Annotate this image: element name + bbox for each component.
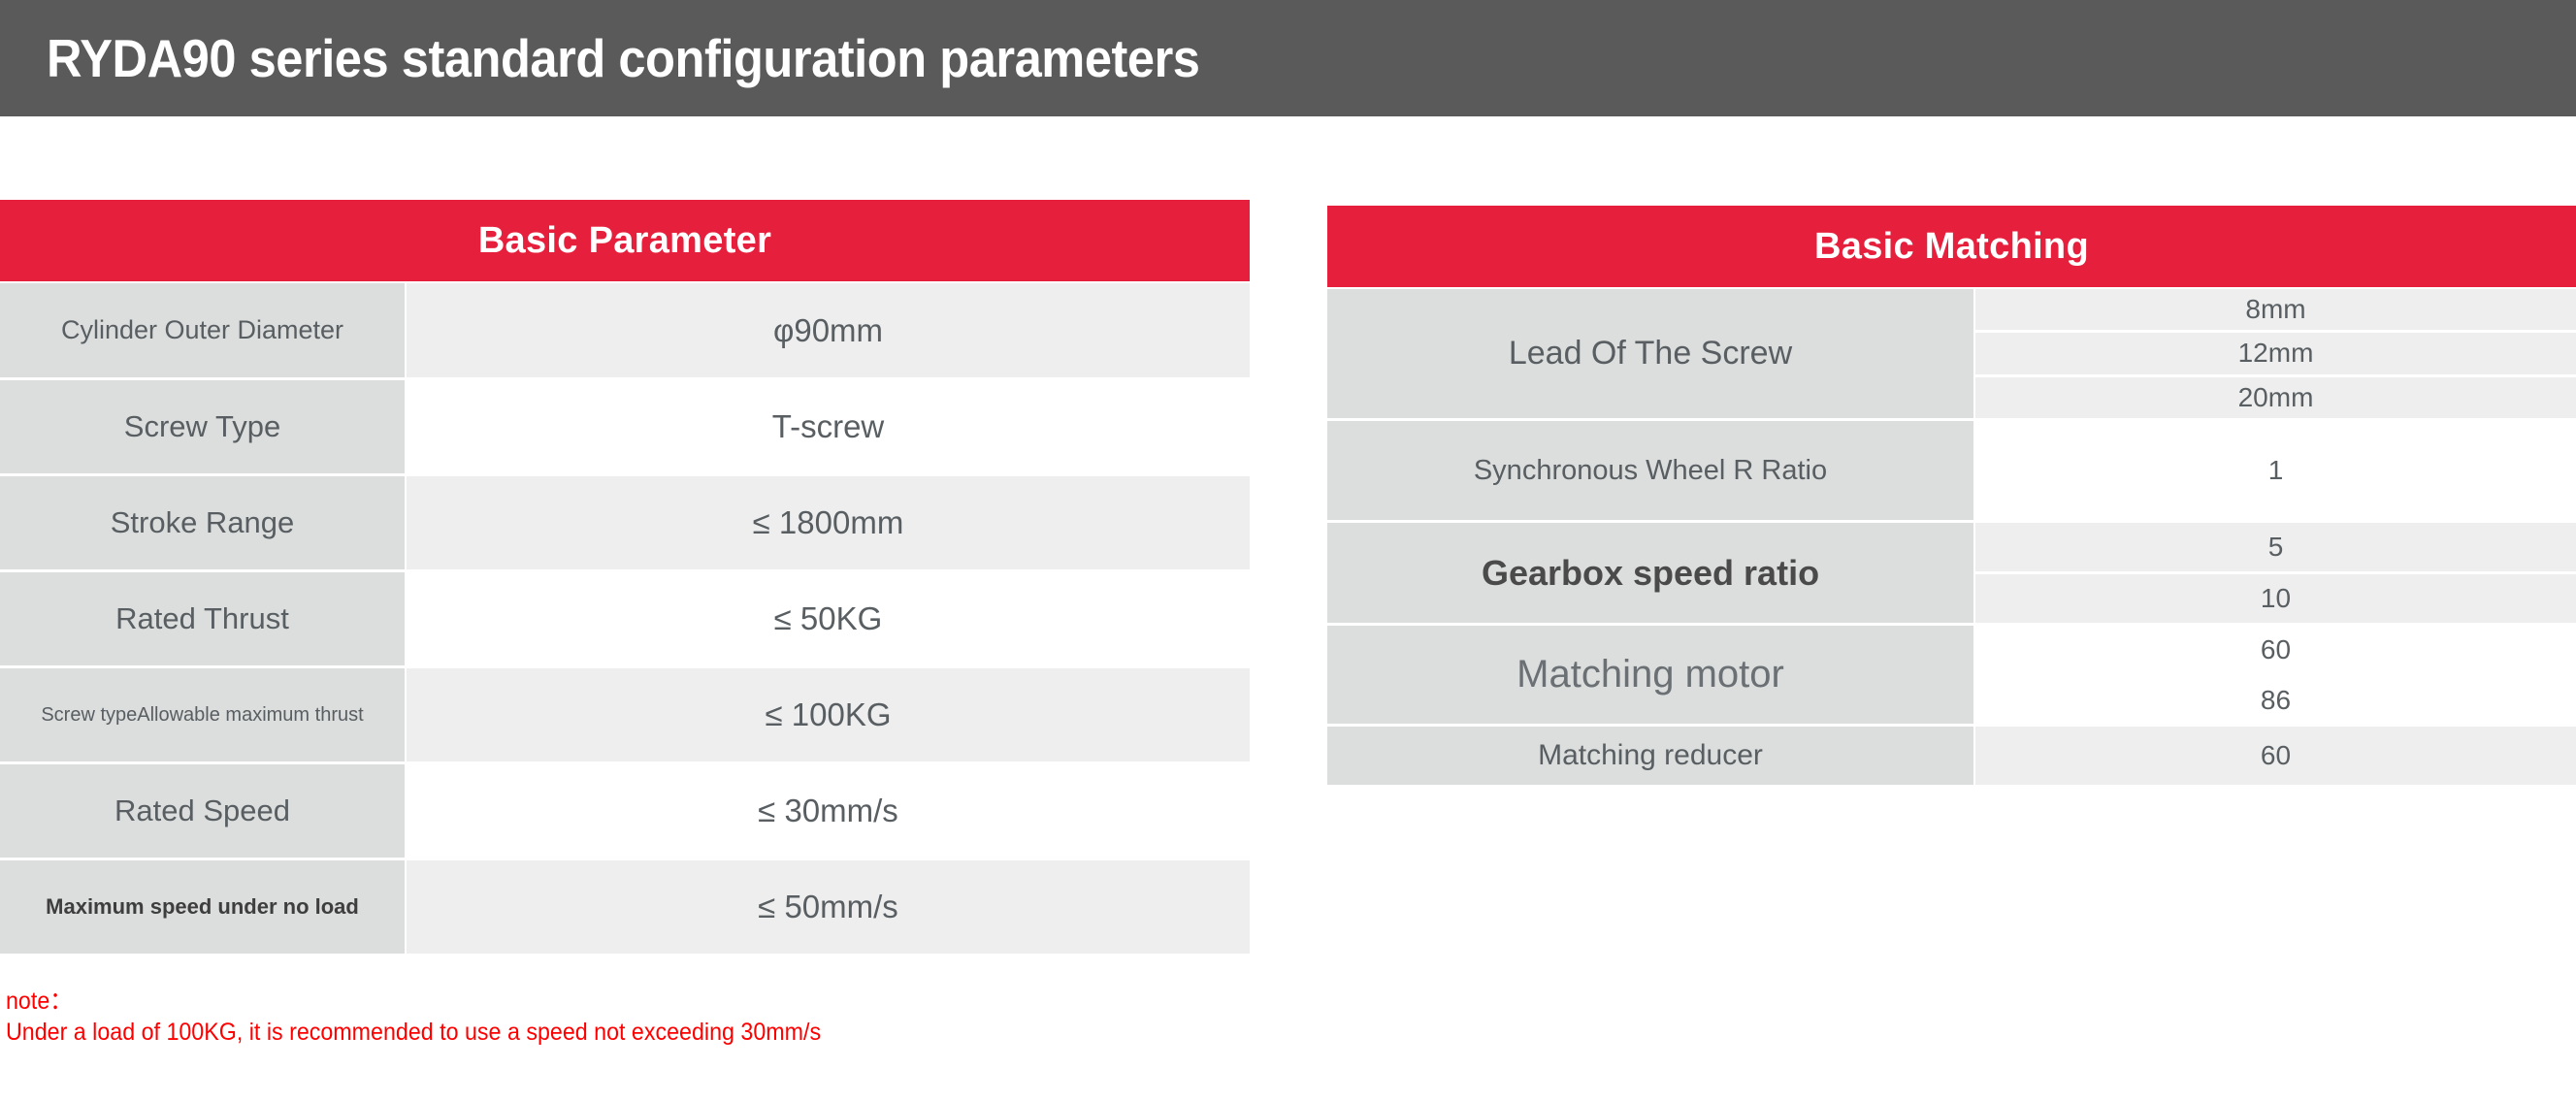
row-value: 60 <box>1975 727 2576 785</box>
row-value: φ90mm <box>407 283 1250 377</box>
row-label: Stroke Range <box>0 476 407 569</box>
row-value: ≤ 50KG <box>407 572 1250 665</box>
basic-parameter-rows: Cylinder Outer Diameter φ90mm Screw Type… <box>0 281 1250 954</box>
table-row: Rated Speed ≤ 30mm/s <box>0 761 1250 858</box>
basic-matching-rows: Lead Of The Screw 8mm 12mm 20mm Synchron… <box>1327 287 2576 785</box>
row-value: 20mm <box>1975 374 2576 418</box>
table-row: Rated Thrust ≤ 50KG <box>0 569 1250 665</box>
row-value-group: 60 86 <box>1975 626 2576 724</box>
row-label: Gearbox speed ratio <box>1327 523 1975 623</box>
row-value: ≤ 30mm/s <box>407 764 1250 858</box>
table-row: Screw typeAllowable maximum thrust ≤ 100… <box>0 665 1250 761</box>
basic-matching-table-header: Basic Matching <box>1327 206 2576 287</box>
row-label: Matching motor <box>1327 626 1975 724</box>
row-label: Screw Type <box>0 380 407 473</box>
row-label: Synchronous Wheel R Ratio <box>1327 421 1975 520</box>
row-value: ≤ 100KG <box>407 668 1250 761</box>
row-value-group: 60 <box>1975 727 2576 785</box>
row-value: ≤ 50mm/s <box>407 860 1250 954</box>
note-label: note： <box>6 986 821 1017</box>
row-label: Maximum speed under no load <box>0 860 407 954</box>
row-value-group: 5 10 <box>1975 523 2576 623</box>
page-title-bar: RYDA90 series standard configuration par… <box>0 0 2576 116</box>
row-label: Rated Thrust <box>0 572 407 665</box>
table-row: Matching reducer 60 <box>1327 724 2576 785</box>
basic-matching-table: Basic Matching Lead Of The Screw 8mm 12m… <box>1327 206 2576 785</box>
row-value: T-screw <box>407 380 1250 473</box>
table-row: Lead Of The Screw 8mm 12mm 20mm <box>1327 287 2576 418</box>
row-value-group: 8mm 12mm 20mm <box>1975 289 2576 418</box>
table-row: Screw Type T-screw <box>0 377 1250 473</box>
table-row: Gearbox speed ratio 5 10 <box>1327 520 2576 623</box>
row-label: Matching reducer <box>1327 727 1975 785</box>
row-label: Screw typeAllowable maximum thrust <box>0 668 407 761</box>
table-row: Stroke Range ≤ 1800mm <box>0 473 1250 569</box>
note-block: note： Under a load of 100KG, it is recom… <box>6 986 882 1048</box>
row-value: 60 <box>1975 626 2576 673</box>
basic-parameter-table-header: Basic Parameter <box>0 200 1250 281</box>
row-value: ≤ 1800mm <box>407 476 1250 569</box>
row-value-group: 1 <box>1975 421 2576 520</box>
note-text: Under a load of 100KG, it is recommended… <box>6 1017 821 1048</box>
row-value: 12mm <box>1975 330 2576 373</box>
basic-parameter-table: Basic Parameter Cylinder Outer Diameter … <box>0 200 1250 954</box>
row-label: Rated Speed <box>0 764 407 858</box>
row-value: 8mm <box>1975 289 2576 330</box>
row-value: 1 <box>1975 421 2576 520</box>
table-row: Cylinder Outer Diameter φ90mm <box>0 281 1250 377</box>
row-value: 10 <box>1975 571 2576 623</box>
table-row: Maximum speed under no load ≤ 50mm/s <box>0 858 1250 954</box>
table-row: Synchronous Wheel R Ratio 1 <box>1327 418 2576 520</box>
row-label: Lead Of The Screw <box>1327 289 1975 418</box>
row-value: 5 <box>1975 523 2576 571</box>
page-title: RYDA90 series standard configuration par… <box>47 27 1199 89</box>
row-label: Cylinder Outer Diameter <box>0 283 407 377</box>
table-row: Matching motor 60 86 <box>1327 623 2576 724</box>
row-value: 86 <box>1975 673 2576 724</box>
